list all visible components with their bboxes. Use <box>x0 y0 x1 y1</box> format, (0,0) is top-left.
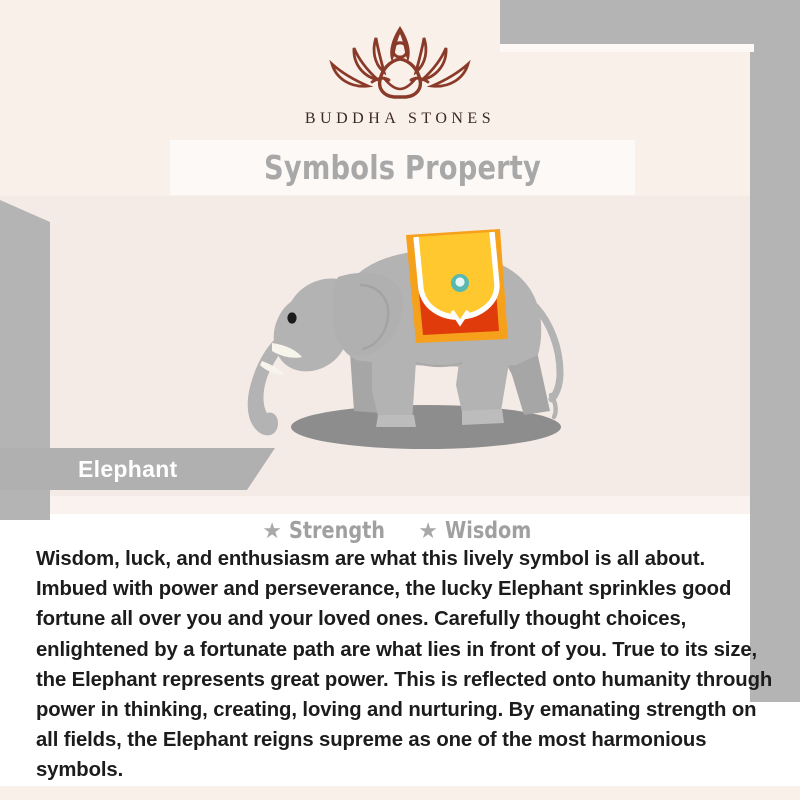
background-band-footer <box>0 786 800 800</box>
page-title: Symbols Property <box>264 148 541 187</box>
elephant-hind-foot-near <box>462 409 504 425</box>
ground-shadow <box>291 405 561 449</box>
description-text: Wisdom, luck, and enthusiasm are what th… <box>36 544 776 786</box>
lotus-meditation-icon <box>310 20 490 108</box>
star-icon: ★ <box>418 520 438 542</box>
symbol-label-text: Elephant <box>78 456 178 483</box>
attribute-wisdom: ★ Wisdom <box>418 518 538 544</box>
elephant-illustration <box>220 215 600 475</box>
elephant-eye <box>287 312 296 323</box>
attribute-label: Strength <box>289 518 385 544</box>
symbol-label-banner: Elephant <box>0 448 275 490</box>
symbol-info-card: BUDDHA STONES Symbols Property <box>0 0 800 800</box>
elephant-blanket <box>406 229 508 343</box>
elephant-front-leg-near <box>372 357 416 425</box>
background-band-strip <box>0 496 800 514</box>
elephant-front-foot-near <box>376 415 416 427</box>
attribute-strength: ★ Strength <box>262 518 392 544</box>
elephant-graphic <box>220 215 600 475</box>
star-icon: ★ <box>262 520 282 542</box>
brand-logo: BUDDHA STONES <box>0 20 800 140</box>
brand-wordmark: BUDDHA STONES <box>305 110 495 128</box>
attribute-list: ★ Strength ★ Wisdom <box>0 514 800 548</box>
elephant-tail-tuft <box>551 395 556 417</box>
blanket-gem-highlight <box>455 277 464 286</box>
attribute-label: Wisdom <box>445 518 531 544</box>
page-title-banner: Symbols Property <box>170 140 635 195</box>
